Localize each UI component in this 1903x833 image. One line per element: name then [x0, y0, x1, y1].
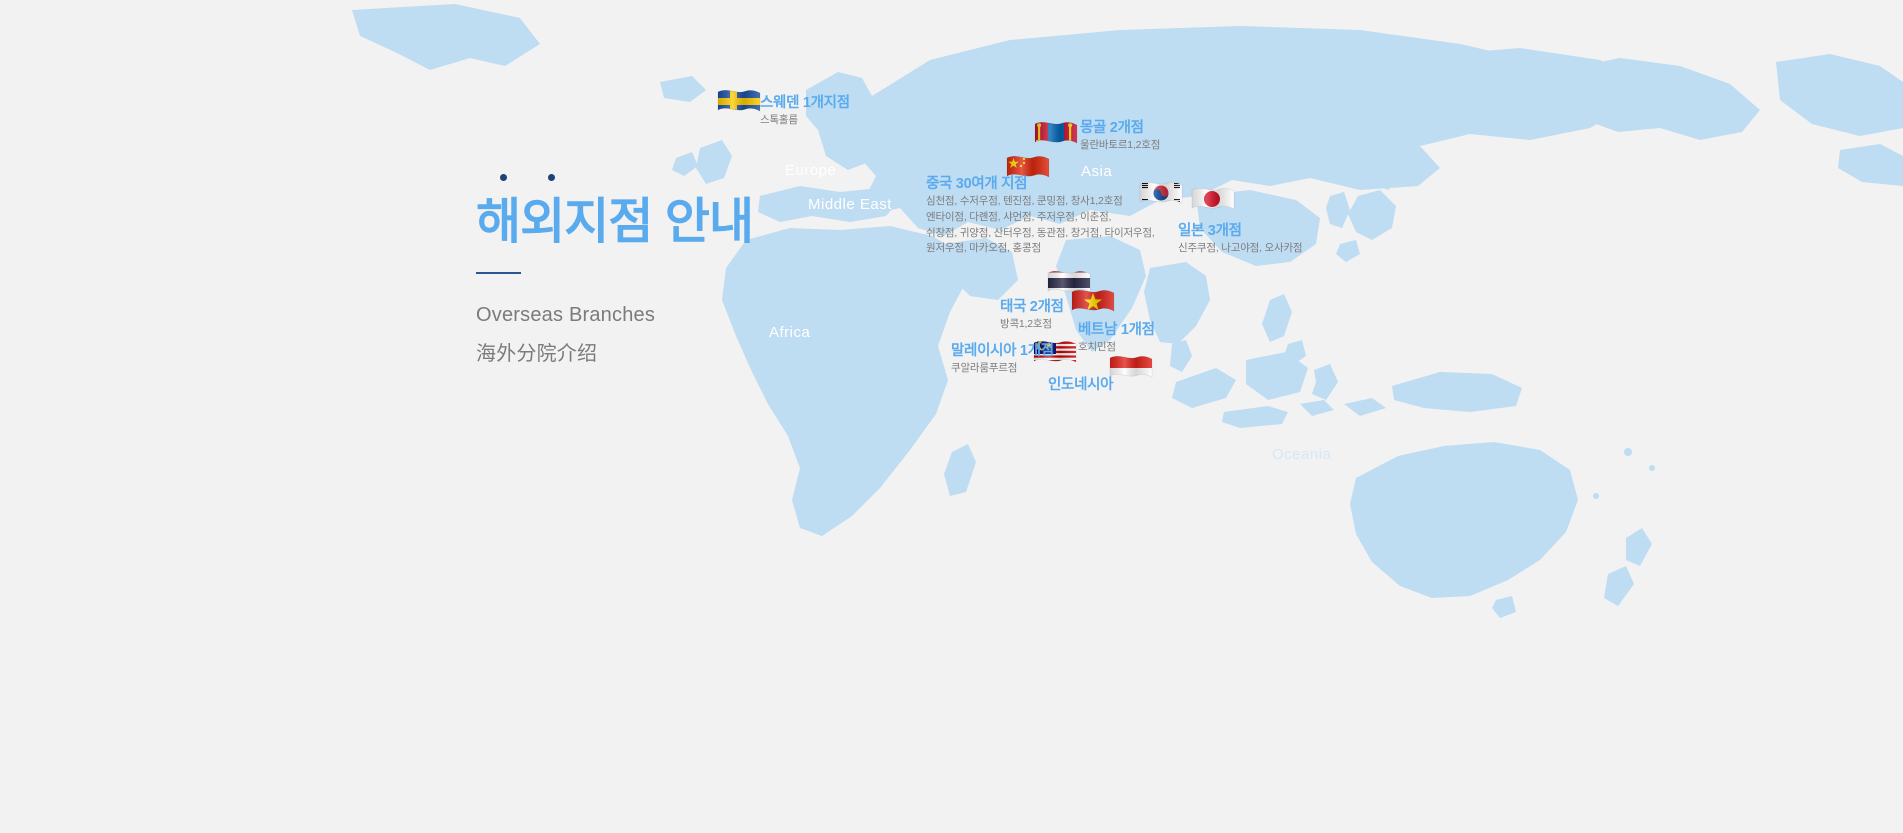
flag-mongolia-icon: [1033, 118, 1079, 150]
branch-label-japan: 일본 3개점신주쿠점, 나고야점, 오사카점: [1178, 222, 1302, 256]
branch-detail-malaysia: 쿠알라룸푸르점: [951, 361, 1054, 376]
title-dot-right: [548, 174, 555, 181]
branch-label-vietnam: 베트남 1개점호치민점: [1078, 321, 1155, 355]
branch-detail-line: 방콕1,2호점: [1000, 317, 1064, 332]
branch-country-thailand: 태국 2개점: [1000, 298, 1064, 316]
branch-label-china: 중국 30여개 지점심천점, 수저우점, 텐진점, 쿤밍점, 창사1,2호점엔타…: [926, 175, 1155, 257]
title-decoration-dots: [500, 174, 620, 186]
branch-label-indonesia: 인도네시아: [1048, 376, 1113, 394]
title-block: 해외지점 안내 Overseas Branches 海外分院介绍: [476, 196, 836, 366]
subtitle-chinese: 海外分院介绍: [476, 337, 836, 366]
branch-detail-china: 심천점, 수저우점, 텐진점, 쿤밍점, 창사1,2호점엔타이점, 다롄점, 샤…: [926, 194, 1155, 257]
page-title: 해외지점 안내: [476, 196, 836, 250]
world-map: [0, 0, 1903, 833]
branch-label-sweden: 스웨덴 1개지점스톡홀름: [760, 94, 850, 128]
world-map-svg: [0, 0, 1903, 833]
branch-detail-japan: 신주쿠점, 나고야점, 오사카점: [1178, 241, 1302, 256]
branch-country-indonesia: 인도네시아: [1048, 376, 1113, 394]
branch-detail-line: 원저우점, 마카오점, 홍콩점: [926, 241, 1155, 257]
flag-vietnam-icon: [1070, 286, 1116, 318]
branch-detail-line: 쿠알라룸푸르점: [951, 361, 1054, 376]
flag-indonesia-icon: [1108, 352, 1154, 384]
branch-detail-line: 신주쿠점, 나고야점, 오사카점: [1178, 241, 1302, 256]
branch-detail-sweden: 스톡홀름: [760, 113, 850, 128]
flag-korea-icon: [1138, 178, 1184, 210]
branch-country-malaysia: 말레이시아 1개점: [951, 342, 1054, 360]
branch-detail-line: 울란바토르1,2호점: [1080, 138, 1160, 153]
overseas-branches-page: EuropeMiddle EastAsiaAfricaOceania 해외지점 …: [0, 0, 1903, 833]
branch-detail-line: 심천점, 수저우점, 텐진점, 쿤밍점, 창사1,2호점: [926, 194, 1155, 210]
branch-country-mongolia: 몽골 2개점: [1080, 119, 1160, 137]
branch-country-sweden: 스웨덴 1개지점: [760, 94, 850, 112]
branch-detail-line: 엔타이점, 다롄점, 샤먼점, 주저우점, 이춘점,: [926, 210, 1155, 226]
branch-country-china: 중국 30여개 지점: [926, 175, 1155, 193]
branch-detail-line: 스톡홀름: [760, 113, 850, 128]
branch-country-japan: 일본 3개점: [1178, 222, 1302, 240]
branch-detail-line: 쉬창점, 귀양점, 산터우점, 동관점, 창거점, 타이저우점,: [926, 226, 1155, 242]
branch-detail-thailand: 방콕1,2호점: [1000, 317, 1064, 332]
flag-sweden-icon: [716, 86, 762, 118]
branch-country-vietnam: 베트남 1개점: [1078, 321, 1155, 339]
branch-label-mongolia: 몽골 2개점울란바토르1,2호점: [1080, 119, 1160, 153]
branch-label-thailand: 태국 2개점방콕1,2호점: [1000, 298, 1064, 332]
flag-japan-icon: [1190, 184, 1236, 216]
branch-detail-mongolia: 울란바토르1,2호점: [1080, 138, 1160, 153]
title-dot-left: [500, 174, 507, 181]
branch-label-malaysia: 말레이시아 1개점쿠알라룸푸르점: [951, 342, 1054, 376]
subtitle-english: Overseas Branches: [476, 304, 836, 327]
title-divider: [476, 272, 521, 274]
